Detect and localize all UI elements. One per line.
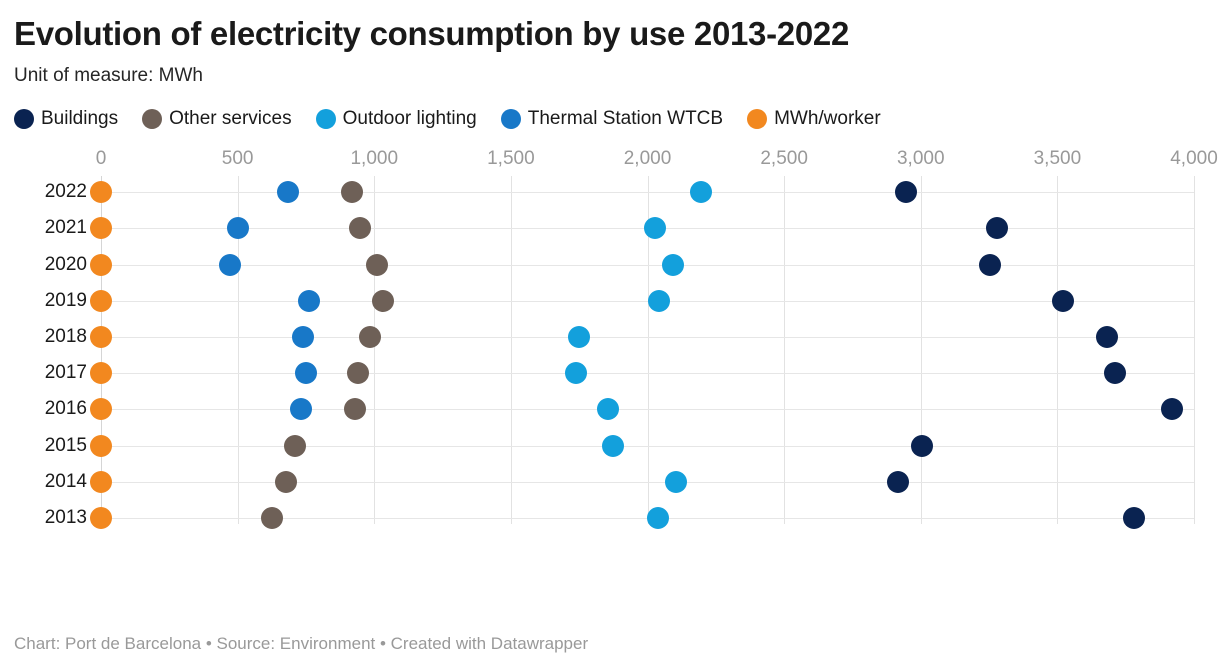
data-point-mwh-worker[interactable]: [90, 326, 112, 348]
data-point-mwh-worker[interactable]: [90, 398, 112, 420]
data-point-outdoor-lighting[interactable]: [690, 181, 712, 203]
data-point-outdoor-lighting[interactable]: [647, 507, 669, 529]
legend-dot-icon: [501, 109, 521, 129]
legend-item-label: Thermal Station WTCB: [528, 108, 723, 130]
data-point-buildings[interactable]: [1161, 398, 1183, 420]
data-point-other-services[interactable]: [284, 435, 306, 457]
legend-item-label: Buildings: [41, 108, 118, 130]
legend-dot-icon: [747, 109, 767, 129]
legend-item-label: MWh/worker: [774, 108, 881, 130]
data-point-thermal-station-wtcb[interactable]: [227, 217, 249, 239]
x-tick-label: 1,500: [487, 148, 535, 170]
x-tick-label: 2,000: [624, 148, 672, 170]
data-point-buildings[interactable]: [895, 181, 917, 203]
data-point-buildings[interactable]: [1104, 362, 1126, 384]
y-axis-category-label: 2013: [14, 507, 87, 529]
legend-dot-icon: [14, 109, 34, 129]
data-point-mwh-worker[interactable]: [90, 254, 112, 276]
data-point-outdoor-lighting[interactable]: [565, 362, 587, 384]
data-point-other-services[interactable]: [341, 181, 363, 203]
legend-item-other-services[interactable]: Other services: [142, 108, 291, 130]
y-axis-category-label: 2017: [14, 362, 87, 384]
x-axis-tick-labels: 05001,0001,5002,0002,5003,0003,5004,000: [14, 148, 1206, 174]
data-point-other-services[interactable]: [372, 290, 394, 312]
legend-item-outdoor-lighting[interactable]: Outdoor lighting: [316, 108, 477, 130]
data-point-mwh-worker[interactable]: [90, 181, 112, 203]
data-point-thermal-station-wtcb[interactable]: [292, 326, 314, 348]
data-point-buildings[interactable]: [911, 435, 933, 457]
legend-dot-icon: [316, 109, 336, 129]
page-title: Evolution of electricity consumption by …: [14, 0, 1206, 54]
x-tick-label: 0: [96, 148, 107, 170]
y-axis-category-label: 2015: [14, 435, 87, 457]
gridline: [1194, 176, 1195, 524]
data-point-other-services[interactable]: [366, 254, 388, 276]
y-axis-category-label: 2020: [14, 254, 87, 276]
legend-item-label: Outdoor lighting: [343, 108, 477, 130]
data-point-other-services[interactable]: [359, 326, 381, 348]
data-point-outdoor-lighting[interactable]: [662, 254, 684, 276]
legend-dot-icon: [142, 109, 162, 129]
x-tick-label: 3,000: [897, 148, 945, 170]
y-axis-category-label: 2018: [14, 326, 87, 348]
row-baseline: [101, 482, 1194, 483]
legend-item-thermal-station-wtcb[interactable]: Thermal Station WTCB: [501, 108, 723, 130]
x-tick-label: 2,500: [760, 148, 808, 170]
data-point-buildings[interactable]: [1052, 290, 1074, 312]
data-point-outdoor-lighting[interactable]: [648, 290, 670, 312]
data-point-other-services[interactable]: [349, 217, 371, 239]
legend-item-buildings[interactable]: Buildings: [14, 108, 118, 130]
y-axis-category-label: 2022: [14, 181, 87, 203]
data-point-buildings[interactable]: [986, 217, 1008, 239]
y-axis-category-label: 2021: [14, 217, 87, 239]
x-tick-label: 1,000: [350, 148, 398, 170]
row-baseline: [101, 373, 1194, 374]
data-point-buildings[interactable]: [1096, 326, 1118, 348]
data-point-mwh-worker[interactable]: [90, 471, 112, 493]
x-tick-label: 4,000: [1170, 148, 1218, 170]
data-point-buildings[interactable]: [1123, 507, 1145, 529]
data-point-thermal-station-wtcb[interactable]: [290, 398, 312, 420]
row-baseline: [101, 409, 1194, 410]
y-axis-category-label: 2014: [14, 471, 87, 493]
data-point-mwh-worker[interactable]: [90, 362, 112, 384]
data-point-other-services[interactable]: [344, 398, 366, 420]
plot-area: 05001,0001,5002,0002,5003,0003,5004,000 …: [14, 148, 1206, 548]
x-tick-label: 500: [222, 148, 254, 170]
legend-item-label: Other services: [169, 108, 291, 130]
data-point-thermal-station-wtcb[interactable]: [295, 362, 317, 384]
data-point-other-services[interactable]: [347, 362, 369, 384]
data-point-outdoor-lighting[interactable]: [568, 326, 590, 348]
data-point-thermal-station-wtcb[interactable]: [219, 254, 241, 276]
data-point-other-services[interactable]: [261, 507, 283, 529]
data-point-mwh-worker[interactable]: [90, 507, 112, 529]
data-point-other-services[interactable]: [275, 471, 297, 493]
data-point-outdoor-lighting[interactable]: [597, 398, 619, 420]
legend-item-mwh-worker[interactable]: MWh/worker: [747, 108, 881, 130]
data-point-buildings[interactable]: [887, 471, 909, 493]
data-point-thermal-station-wtcb[interactable]: [298, 290, 320, 312]
y-axis-category-label: 2019: [14, 290, 87, 312]
data-point-outdoor-lighting[interactable]: [602, 435, 624, 457]
data-point-thermal-station-wtcb[interactable]: [277, 181, 299, 203]
y-axis-category-label: 2016: [14, 398, 87, 420]
data-point-buildings[interactable]: [979, 254, 1001, 276]
data-point-mwh-worker[interactable]: [90, 435, 112, 457]
data-point-mwh-worker[interactable]: [90, 217, 112, 239]
x-tick-label: 3,500: [1034, 148, 1082, 170]
row-baseline: [101, 446, 1194, 447]
chart-subtitle: Unit of measure: MWh: [14, 54, 1206, 89]
data-point-mwh-worker[interactable]: [90, 290, 112, 312]
chart-legend: BuildingsOther servicesOutdoor lightingT…: [14, 88, 1206, 130]
chart-footer: Chart: Port de Barcelona • Source: Envir…: [14, 634, 588, 654]
row-baseline: [101, 265, 1194, 266]
chart-container: Evolution of electricity consumption by …: [0, 0, 1220, 666]
plot-grid: 2022202120202019201820172016201520142013: [14, 176, 1206, 524]
row-baseline: [101, 337, 1194, 338]
data-point-outdoor-lighting[interactable]: [644, 217, 666, 239]
row-baseline: [101, 192, 1194, 193]
data-point-outdoor-lighting[interactable]: [665, 471, 687, 493]
